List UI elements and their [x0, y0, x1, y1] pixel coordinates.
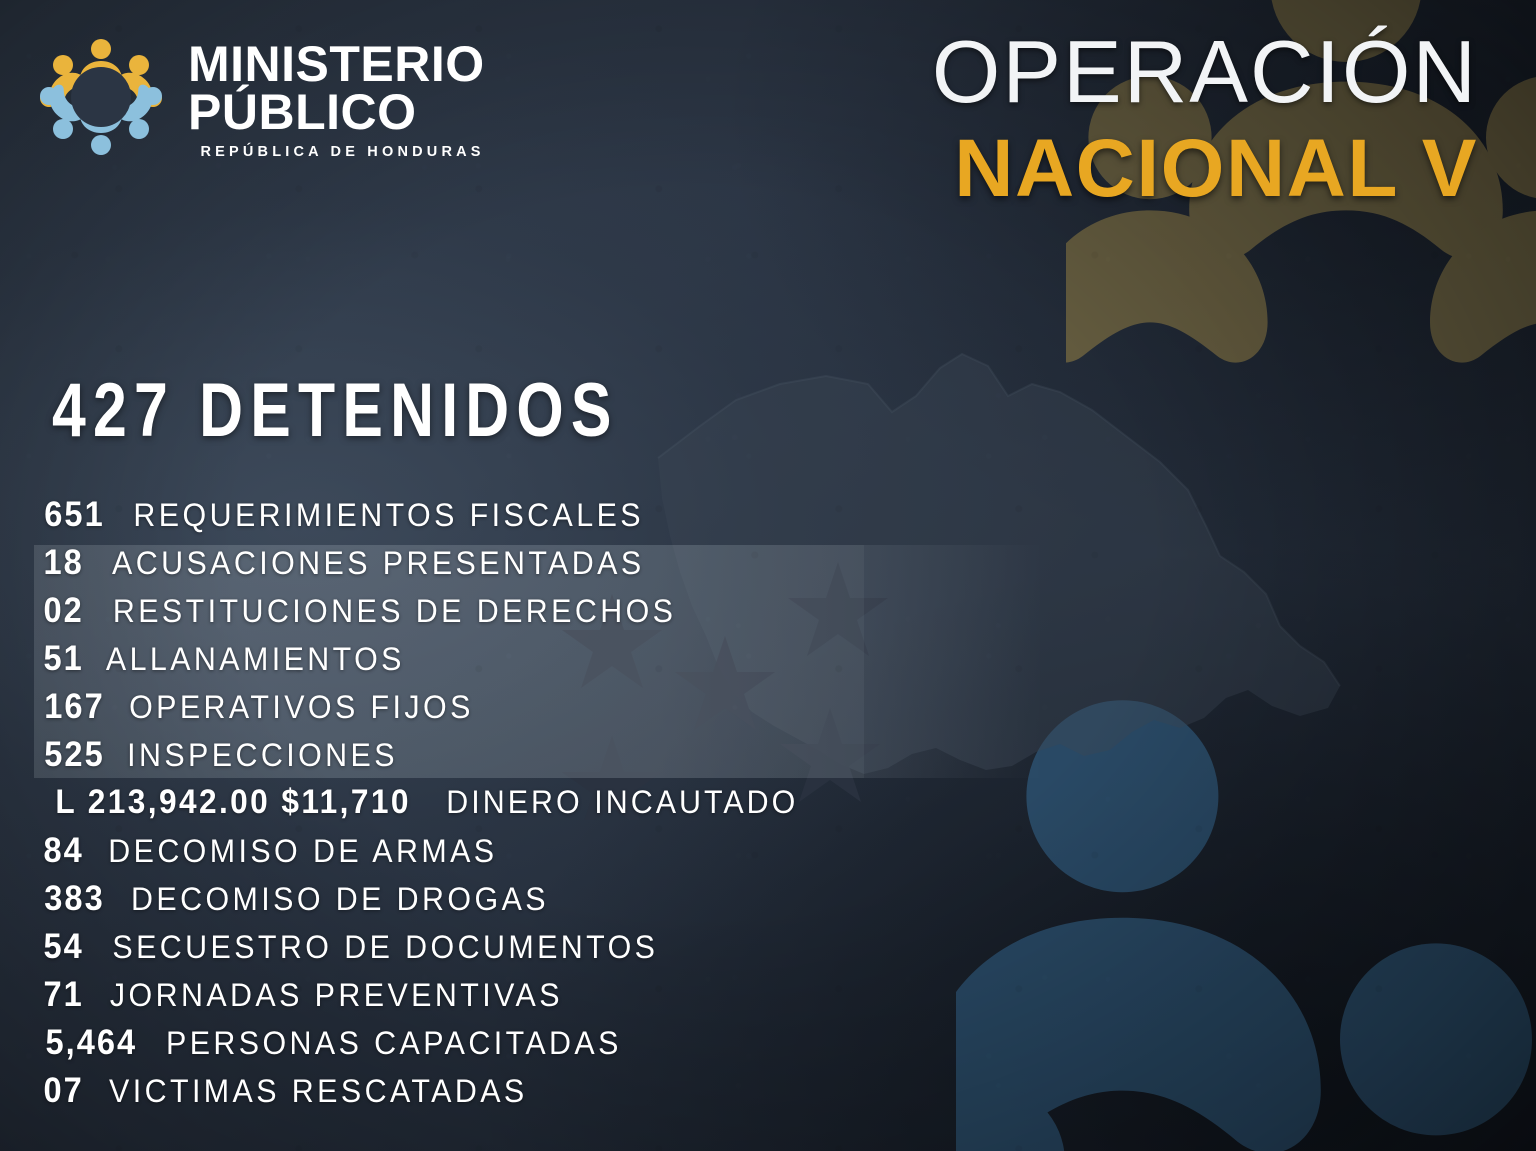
- stat-label: ALLANAMIENTOS: [106, 641, 405, 678]
- stat-number: 167: [44, 687, 104, 727]
- stat-number: 525: [44, 735, 104, 775]
- stat-row: 71JORNADAS PREVENTIVAS: [42, 975, 1142, 1023]
- stat-number: L 213,942.00 $11,710: [55, 783, 410, 822]
- operation-subtitle: NACIONAL V: [932, 128, 1478, 210]
- stat-row: 51ALLANAMIENTOS: [42, 639, 1142, 687]
- operation-word: OPERACIÓN: [932, 28, 1478, 116]
- stat-label: INSPECCIONES: [127, 737, 398, 774]
- stat-number: 71: [44, 975, 84, 1015]
- statistics-list: 651REQUERIMIENTOS FISCALES18ACUSACIONES …: [42, 495, 1142, 1119]
- poster-canvas: MINISTERIO PÚBLICO REPÚBLICA DE HONDURAS…: [0, 0, 1536, 1151]
- circle-of-people-icon: [36, 32, 166, 162]
- stat-label: DINERO INCAUTADO: [447, 784, 799, 821]
- stat-number: 07: [44, 1071, 84, 1111]
- stat-label: OPERATIVOS FIJOS: [129, 689, 474, 726]
- stat-row: 02RESTITUCIONES DE DERECHOS: [42, 591, 1142, 639]
- ministerio-publico-brand: MINISTERIO PÚBLICO REPÚBLICA DE HONDURAS: [36, 32, 485, 162]
- stat-label: DECOMISO DE DROGAS: [131, 881, 549, 918]
- brand-line-1: MINISTERIO: [188, 40, 485, 88]
- stat-number: 54: [44, 927, 84, 967]
- stat-label: PERSONAS CAPACITADAS: [166, 1025, 622, 1062]
- operation-title: OPERACIÓN NACIONAL V: [932, 28, 1478, 210]
- stat-label: SECUESTRO DE DOCUMENTOS: [113, 929, 659, 966]
- stat-number: 18: [44, 543, 84, 583]
- stat-label: ACUSACIONES PRESENTADAS: [112, 545, 645, 582]
- stat-number: 383: [44, 879, 104, 919]
- stat-number: 5,464: [45, 1023, 137, 1063]
- header: MINISTERIO PÚBLICO REPÚBLICA DE HONDURAS…: [0, 0, 1536, 200]
- stat-row: L 213,942.00 $11,710DINERO INCAUTADO: [42, 783, 1142, 831]
- stat-label: VICTIMAS RESCATADAS: [109, 1073, 528, 1110]
- stat-label: REQUERIMIENTOS FISCALES: [133, 497, 644, 534]
- brand-wordmark: MINISTERIO PÚBLICO REPÚBLICA DE HONDURAS: [188, 34, 485, 160]
- stat-row: 525INSPECCIONES: [42, 735, 1142, 783]
- stat-row: 167OPERATIVOS FIJOS: [42, 687, 1142, 735]
- stat-number: 51: [44, 639, 84, 679]
- stat-row: 54SECUESTRO DE DOCUMENTOS: [42, 927, 1142, 975]
- stat-row: 383DECOMISO DE DROGAS: [42, 879, 1142, 927]
- stat-label: DECOMISO DE ARMAS: [109, 833, 498, 870]
- stat-label: JORNADAS PREVENTIVAS: [110, 977, 563, 1014]
- brand-line-3: REPÚBLICA DE HONDURAS: [188, 144, 485, 160]
- stat-number: 84: [44, 831, 84, 871]
- stat-row: 18ACUSACIONES PRESENTADAS: [42, 543, 1142, 591]
- stat-label: RESTITUCIONES DE DERECHOS: [113, 593, 677, 630]
- stat-number: 651: [44, 495, 104, 535]
- brand-line-2: PÚBLICO: [188, 88, 485, 136]
- stat-row: 651REQUERIMIENTOS FISCALES: [42, 495, 1142, 543]
- stat-row: 07VICTIMAS RESCATADAS: [42, 1071, 1142, 1119]
- stat-row: 5,464PERSONAS CAPACITADAS: [42, 1023, 1142, 1071]
- stat-row: 84DECOMISO DE ARMAS: [42, 831, 1142, 879]
- page-headline: 427 DETENIDOS: [52, 373, 619, 449]
- stat-number: 02: [44, 591, 84, 631]
